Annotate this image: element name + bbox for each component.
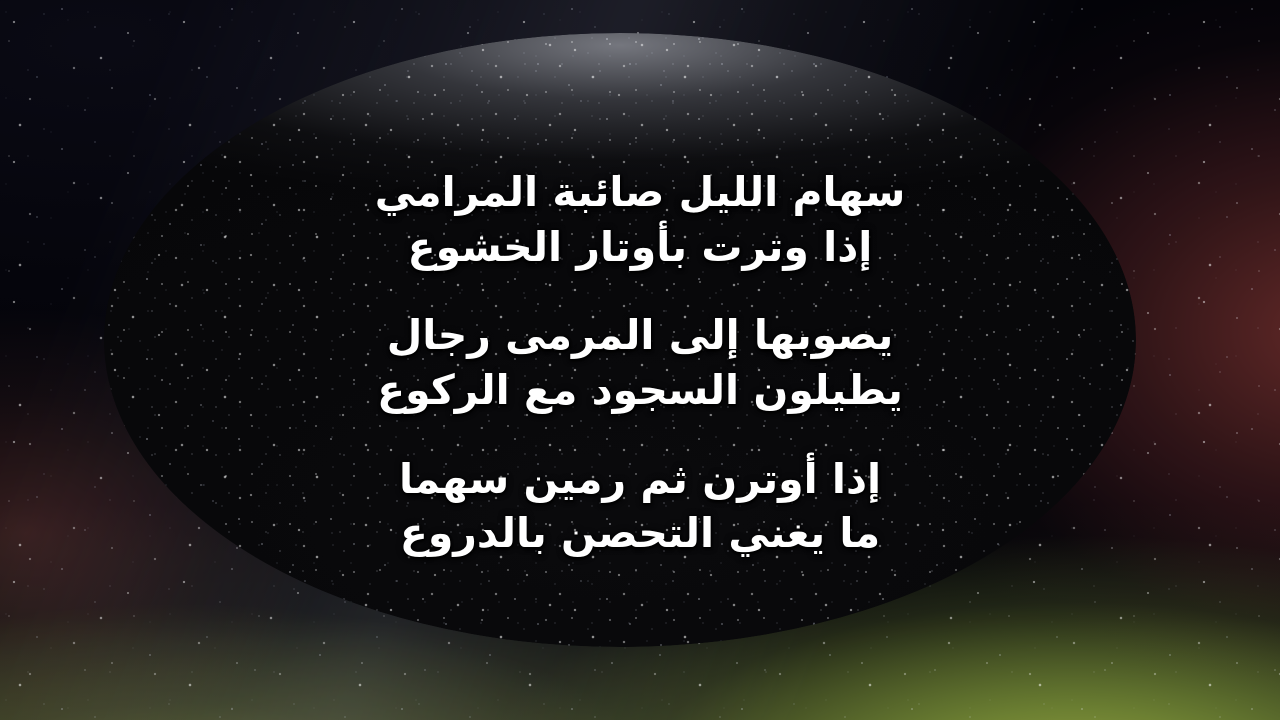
poem-verse-3: يصوبها إلى المرمى رجال [377,308,903,363]
poem-verse-2: إذا وترت بأوتار الخشوع [375,220,906,275]
poem-verse-1: سهام الليل صائبة المرامي [375,165,906,220]
poem-image-canvas: سهام الليل صائبة المرامي إذا وترت بأوتار… [0,0,1280,720]
poem-text-block: سهام الليل صائبة المرامي إذا وترت بأوتار… [0,0,1280,720]
poem-stanza-3: إذا أوترن ثم رمين سهما ما يغني التحصن با… [399,452,881,561]
poem-verse-5: إذا أوترن ثم رمين سهما [399,452,881,507]
poem-verse-6: ما يغني التحصن بالدروع [399,506,881,561]
poem-verse-4: يطيلون السجود مع الركوع [377,363,903,418]
poem-stanza-1: سهام الليل صائبة المرامي إذا وترت بأوتار… [375,165,906,274]
poem-stanza-2: يصوبها إلى المرمى رجال يطيلون السجود مع … [377,308,903,417]
